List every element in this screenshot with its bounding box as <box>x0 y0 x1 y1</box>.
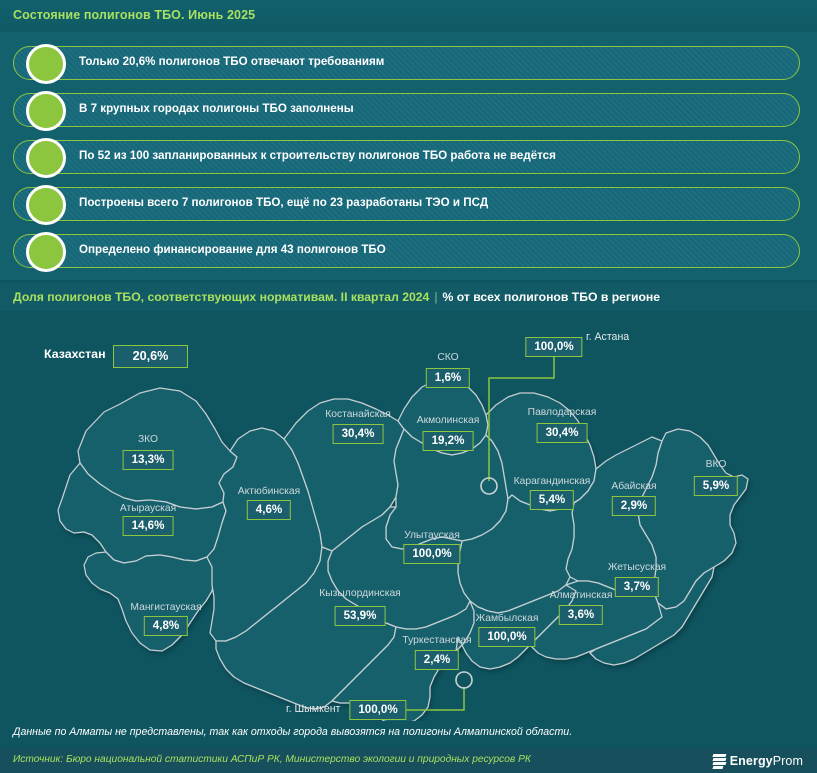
logo-text-light: Prom <box>773 754 803 768</box>
region-value-chip[interactable]: 19,2% <box>423 431 474 451</box>
source-bar: Источник: Бюро национальной статистики А… <box>0 748 817 773</box>
region-value-chip[interactable]: 13,3% <box>123 450 174 470</box>
bullet-dot-icon <box>26 44 66 84</box>
region-label: Костанайская <box>325 409 391 420</box>
region-value-chip[interactable]: 14,6% <box>123 516 174 536</box>
logo-text: EnergyProm <box>730 754 803 768</box>
logo-mark-icon <box>713 754 726 768</box>
region-label: Кызылординская <box>319 588 401 599</box>
region-value-chip[interactable]: 1,6% <box>426 368 470 388</box>
region-label: ЗКО <box>138 434 158 445</box>
national-label: Казахстан <box>44 347 106 361</box>
region-label: Павлодарская <box>528 407 597 418</box>
city-value-chip-astana[interactable]: 100,0% <box>525 337 582 357</box>
region-label: ВКО <box>706 459 727 470</box>
list-item: По 52 из 100 запланированных к строитель… <box>13 140 804 176</box>
region-label: Акмолинская <box>417 415 480 426</box>
bullet-dot-icon <box>26 138 66 178</box>
region-label: СКО <box>437 352 458 363</box>
region-value-chip[interactable]: 100,0% <box>478 627 535 647</box>
bullet-label: По 52 из 100 запланированных к строитель… <box>79 149 556 162</box>
region-value-chip[interactable]: 5,4% <box>530 490 574 510</box>
region-label: Актюбинская <box>238 486 300 497</box>
region-label: Атырауская <box>120 503 176 514</box>
subtitle-separator: | <box>429 290 442 304</box>
region-value-chip[interactable]: 30,4% <box>537 423 588 443</box>
list-item: В 7 крупных городах полигоны ТБО заполне… <box>13 93 804 129</box>
footnote-text: Данные по Алматы не представлены, так ка… <box>13 726 572 738</box>
chart-subtitle-bar: Доля полигонов ТБО, соответствующих норм… <box>0 283 817 311</box>
bullet-dot-icon <box>26 185 66 225</box>
list-item: Только 20,6% полигонов ТБО отвечают треб… <box>13 46 804 82</box>
subtitle-unit: % от всех полигонов ТБО в регионе <box>443 290 661 304</box>
subtitle-main: Доля полигонов ТБО, соответствующих норм… <box>13 290 429 304</box>
region-value-chip[interactable]: 5,9% <box>694 476 738 496</box>
region-value-chip[interactable]: 2,4% <box>415 650 459 670</box>
region-value-chip[interactable]: 53,9% <box>335 606 386 626</box>
logo-text-bold: Energy <box>730 754 773 768</box>
region-label: Алматинская <box>550 590 613 601</box>
chart-subtitle: Доля полигонов ТБО, соответствующих норм… <box>13 290 660 304</box>
city-label-shymkent: г. Шымкент <box>286 703 340 715</box>
energyprom-logo: EnergyProm <box>713 752 803 769</box>
bullet-label: Определено финансирование для 43 полигон… <box>79 243 386 256</box>
region-label: Мангистауская <box>130 602 201 613</box>
source-text: Источник: Бюро национальной статистики А… <box>13 754 531 765</box>
region-label: Жетысуская <box>608 562 666 573</box>
region-value-chip[interactable]: 3,7% <box>615 577 659 597</box>
region-label: Туркестанская <box>402 635 471 646</box>
shymkent-marker-icon <box>456 672 472 688</box>
kazakhstan-choropleth-map: ЗКО13,3%Атырауская14,6%Мангистауская4,8%… <box>0 311 817 721</box>
bullet-label: Построены всего 7 полигонов ТБО, ещё по … <box>79 196 488 209</box>
region-label: Улытауская <box>404 530 460 541</box>
region-value-chip[interactable]: 3,6% <box>559 605 603 625</box>
list-item: Построены всего 7 полигонов ТБО, ещё по … <box>13 187 804 223</box>
bullet-label: В 7 крупных городах полигоны ТБО заполне… <box>79 102 354 115</box>
bullet-label: Только 20,6% полигонов ТБО отвечают треб… <box>79 55 384 68</box>
region-label: Жамбылская <box>476 613 539 624</box>
bullet-dot-icon <box>26 232 66 272</box>
region-value-chip[interactable]: 4,6% <box>247 500 291 520</box>
footnote-bar: Данные по Алматы не представлены, так ка… <box>0 721 817 748</box>
region-label: Карагандинская <box>514 476 591 487</box>
page-title: Состояние полигонов ТБО. Июнь 2025 <box>13 8 255 22</box>
city-label-astana: г. Астана <box>586 331 629 343</box>
list-item: Определено финансирование для 43 полигон… <box>13 234 804 270</box>
bullet-dot-icon <box>26 91 66 131</box>
region-value-chip[interactable]: 4,8% <box>144 616 188 636</box>
region-value-chip[interactable]: 2,9% <box>612 496 656 516</box>
city-value-chip-shymkent[interactable]: 100,0% <box>349 700 406 720</box>
key-findings-panel: Только 20,6% полигонов ТБО отвечают треб… <box>0 32 817 280</box>
region-value-chip[interactable]: 30,4% <box>333 424 384 444</box>
national-value-chip: 20,6% <box>113 345 188 368</box>
region-value-chip[interactable]: 100,0% <box>403 544 460 564</box>
title-bar: Состояние полигонов ТБО. Июнь 2025 <box>0 0 817 32</box>
region-label: Абайская <box>611 481 656 492</box>
